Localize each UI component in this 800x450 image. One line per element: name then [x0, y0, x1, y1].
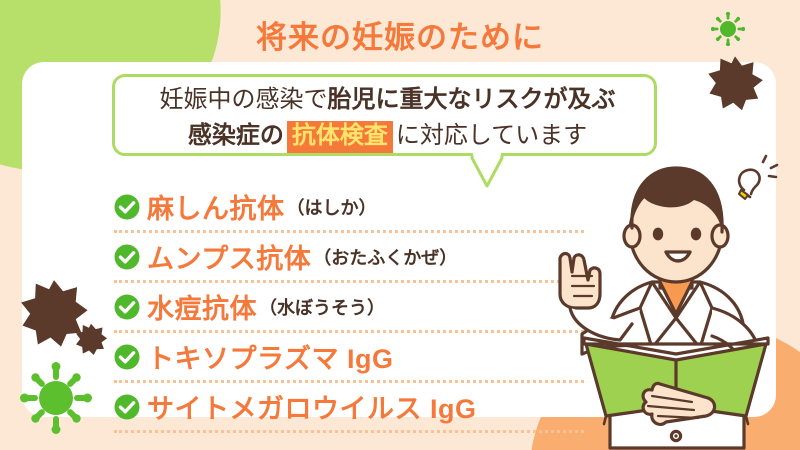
check-circle-icon — [114, 244, 140, 270]
virus-star-icon — [706, 54, 764, 117]
virus-star-icon — [74, 322, 108, 361]
check-circle-icon — [114, 344, 140, 370]
list-item-label: サイトメガロウイルス IgG — [147, 387, 477, 426]
speech-bubble-tail — [470, 153, 504, 189]
virus-icon — [20, 362, 92, 439]
list-item[interactable]: 水痘抗体 （水ぼうそう） — [114, 283, 584, 333]
check-circle-icon — [114, 394, 140, 420]
speech-bubble: 妊娠中の感染で胎児に重大なリスクが及ぶ 感染症の抗体検査に対応しています — [112, 74, 657, 156]
test-list: 麻しん抗体 （はしか） ムンプス抗体 （おたふくかぜ） 水痘抗体 （水ぼうそう） — [114, 183, 584, 433]
list-item-note: （はしか） — [287, 194, 377, 220]
list-item[interactable]: トキソプラズマ IgG — [114, 333, 584, 383]
list-item[interactable]: サイトメガロウイルス IgG — [114, 383, 584, 433]
check-circle-icon — [114, 294, 140, 320]
antibody-test-highlight: 抗体検査 — [287, 121, 393, 153]
bubble-line2-suffix: に対応しています — [396, 122, 587, 149]
bubble-line2-prefix: 感染症の — [188, 122, 284, 149]
list-item-note: （水ぼうそう） — [259, 294, 385, 320]
list-item[interactable]: 麻しん抗体 （はしか） — [114, 183, 584, 233]
bubble-line1-plain: 妊娠中の感染で — [160, 86, 328, 113]
list-item[interactable]: ムンプス抗体 （おたふくかぜ） — [114, 233, 584, 283]
page-title: 将来の妊娠のために — [0, 12, 800, 57]
speech-bubble-text: 妊娠中の感染で胎児に重大なリスクが及ぶ 感染症の抗体検査に対応しています — [115, 82, 660, 154]
list-item-label: 麻しん抗体 — [147, 187, 285, 226]
infographic-canvas: 将来の妊娠のために — [0, 0, 800, 450]
lightbulb-icon — [730, 152, 782, 208]
list-item-label: 水痘抗体 — [147, 287, 257, 326]
bubble-line1-bold: 胎児に重大なリスクが及ぶ — [328, 86, 616, 113]
list-item-label: トキソプラズマ IgG — [147, 337, 393, 376]
list-item-note: （おたふくかぜ） — [313, 244, 457, 270]
virus-icon — [711, 12, 745, 51]
list-item-label: ムンプス抗体 — [147, 237, 311, 276]
check-circle-icon — [114, 194, 140, 220]
